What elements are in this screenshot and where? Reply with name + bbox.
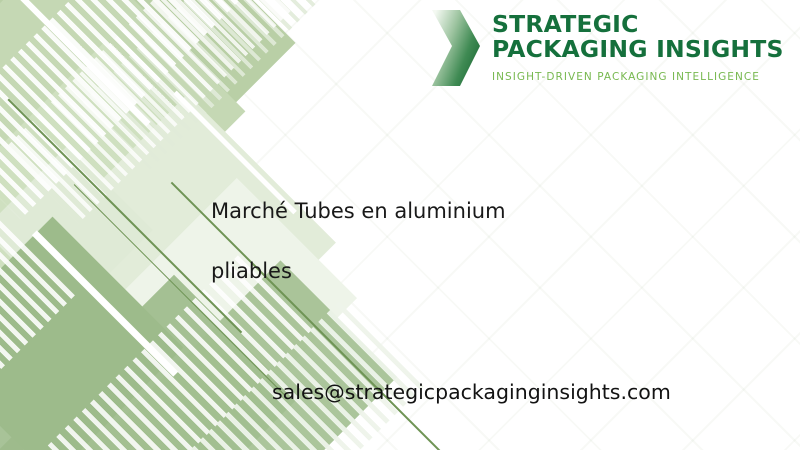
- contact-email: sales@strategicpackaginginsights.com: [272, 379, 671, 405]
- hatch-stripes-top: [83, 0, 362, 170]
- presentation-slide: STRATEGIC PACKAGING INSIGHTS INSIGHT-DRI…: [0, 0, 800, 450]
- diagonal-square-green-d: [0, 273, 87, 450]
- white-diagonal-slash-1: [0, 0, 151, 126]
- hatch-stripes-bottom: [127, 302, 424, 450]
- chevron-right-icon: [430, 8, 482, 88]
- brand-text: STRATEGIC PACKAGING INSIGHTS INSIGHT-DRI…: [492, 8, 784, 83]
- white-diagonal-slash-2: [32, 230, 178, 376]
- slide-title: Marché Tubes en aluminium pliables: [211, 181, 731, 301]
- diagonal-square-green-b: [0, 275, 298, 450]
- diagonal-band-sage-mid: [0, 0, 245, 415]
- hatch-stripes-lower: [0, 218, 75, 448]
- brand-tagline: INSIGHT-DRIVEN PACKAGING INTELLIGENCE: [492, 71, 784, 83]
- diagonal-square-green-a: [0, 217, 183, 450]
- green-hairline-1: [8, 99, 242, 333]
- brand-line-1: STRATEGIC: [492, 12, 784, 37]
- brand-line-2: PACKAGING INSIGHTS: [492, 37, 784, 62]
- diagonal-square-pale: [0, 145, 153, 315]
- brand-logo: STRATEGIC PACKAGING INSIGHTS INSIGHT-DRI…: [430, 8, 784, 88]
